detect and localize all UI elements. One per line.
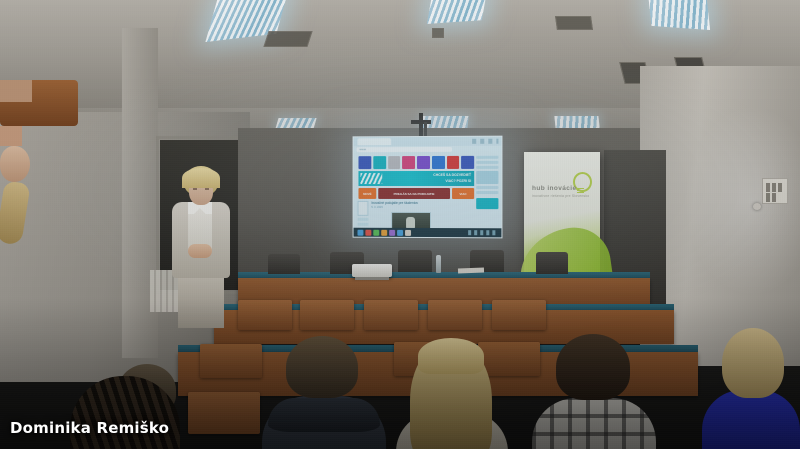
audience-head bbox=[418, 338, 484, 374]
presenter-speaker bbox=[160, 166, 240, 326]
audience-head bbox=[286, 336, 358, 398]
banner-tagline: inovatívne riešenia pre Slovensko bbox=[532, 194, 592, 198]
hero-banner[interactable]: CHCEŠ SA DOZVEDIEŤ VIAC? POZRI SI bbox=[358, 171, 474, 186]
nav-tile[interactable] bbox=[447, 156, 460, 169]
lecture-seat bbox=[428, 300, 482, 330]
sidebar-line bbox=[476, 161, 498, 164]
motion-sensor-icon bbox=[753, 203, 761, 210]
ceiling-light-icon bbox=[554, 116, 599, 128]
projector-unit bbox=[352, 264, 392, 277]
audience-neck bbox=[0, 80, 32, 102]
browser-chrome bbox=[354, 137, 502, 147]
banner-line-2: VIAC? POZRI SI bbox=[445, 179, 471, 183]
chair-back bbox=[398, 250, 432, 272]
browser-url-bar[interactable] bbox=[357, 147, 453, 152]
taskbar-tray-icons[interactable] bbox=[468, 230, 498, 235]
ceiling-vent-icon bbox=[555, 16, 593, 30]
windows-taskbar[interactable] bbox=[354, 228, 502, 238]
sidebar-thumb bbox=[357, 201, 368, 216]
audience-blue-top bbox=[0, 80, 78, 244]
promo-strip-left[interactable]: NOVÉ bbox=[358, 188, 376, 199]
nav-tile[interactable] bbox=[388, 156, 401, 169]
taskbar-icon[interactable] bbox=[389, 229, 395, 235]
sidebar-line bbox=[357, 218, 368, 221]
water-bottle bbox=[436, 255, 441, 273]
audience-face bbox=[0, 146, 30, 182]
article-block[interactable]: Inovačné podujatie pre študentov 5. 3. 2… bbox=[371, 201, 457, 209]
lecture-seat bbox=[200, 344, 262, 378]
nav-tile[interactable] bbox=[373, 156, 386, 169]
presenter-skirt bbox=[178, 276, 224, 328]
lecture-seat bbox=[300, 300, 354, 330]
sidebar-line bbox=[357, 223, 368, 226]
promo-strip-center[interactable]: PRIHLÁS SA NA PODUJATIE bbox=[378, 188, 450, 199]
sidebar-cta-block[interactable] bbox=[476, 198, 498, 209]
right-sidebar-column bbox=[476, 156, 498, 211]
audience-hood bbox=[268, 398, 380, 432]
audience-plaid-shirt bbox=[532, 398, 656, 449]
lightbulb-icon bbox=[570, 172, 590, 196]
audience-head bbox=[722, 328, 784, 398]
promo-strip-right[interactable]: VIAC bbox=[452, 188, 474, 199]
taskbar-icon[interactable] bbox=[397, 229, 403, 235]
ceiling-light-icon bbox=[648, 0, 710, 30]
room-background: www CHCEŠ SA DOZVEDIEŤ VIAC? POZRI SI bbox=[0, 0, 800, 449]
article-headline: Inovačné podujatie pre študentov bbox=[371, 201, 457, 205]
lecture-seat bbox=[364, 300, 418, 330]
tile-nav-row bbox=[358, 156, 474, 169]
photograph-lecture-hall: www CHCEŠ SA DOZVEDIEŤ VIAC? POZRI SI bbox=[0, 0, 800, 449]
presenter-hands bbox=[188, 244, 212, 258]
taskbar-icon[interactable] bbox=[365, 229, 371, 235]
chair-back bbox=[536, 252, 568, 274]
taskbar-icon[interactable] bbox=[381, 229, 387, 235]
lecture-seat bbox=[188, 392, 260, 434]
nav-tile[interactable] bbox=[461, 156, 474, 169]
sidebar-line bbox=[476, 166, 498, 169]
browser-url-text: www bbox=[359, 147, 365, 152]
audience-head bbox=[556, 334, 630, 400]
nav-tile[interactable] bbox=[358, 156, 371, 169]
ceiling-vent-icon bbox=[263, 31, 312, 47]
taskbar-icon[interactable] bbox=[405, 229, 411, 235]
presenter-hair-top bbox=[182, 168, 220, 188]
projection-screen: www CHCEŠ SA DOZVEDIEŤ VIAC? POZRI SI bbox=[353, 136, 503, 239]
taskbar-icon[interactable] bbox=[357, 229, 363, 235]
light-switch-panel[interactable] bbox=[762, 178, 788, 204]
lecture-seat bbox=[492, 300, 546, 330]
audience-blue-sweater bbox=[702, 390, 800, 449]
window-controls-icon[interactable] bbox=[472, 139, 498, 144]
article-subline: 5. 3. 2015 bbox=[371, 206, 457, 209]
banner-brand-name: hub inovácie bbox=[532, 185, 590, 192]
audience-ponytail bbox=[0, 180, 31, 245]
sidebar-line bbox=[476, 156, 498, 159]
browser-tab[interactable] bbox=[357, 138, 391, 145]
sidebar-block bbox=[476, 171, 498, 184]
chair-back bbox=[268, 254, 300, 274]
nav-tile[interactable] bbox=[417, 156, 430, 169]
ceiling-light-icon bbox=[427, 0, 487, 24]
sidebar-line bbox=[476, 186, 498, 189]
sidebar-line bbox=[476, 191, 498, 194]
banner-hatch-graphic bbox=[360, 173, 382, 184]
banner-line-1: CHCEŠ SA DOZVEDIEŤ bbox=[433, 173, 471, 177]
audience-hoodie-man bbox=[0, 80, 32, 102]
nav-tile[interactable] bbox=[402, 156, 415, 169]
photographer-watermark: Dominika Remiško bbox=[10, 419, 169, 437]
taskbar-icon[interactable] bbox=[373, 229, 379, 235]
lecture-seat bbox=[238, 300, 292, 330]
papers-on-desk bbox=[458, 268, 484, 274]
nav-tile[interactable] bbox=[432, 156, 445, 169]
audience-neck bbox=[0, 126, 22, 146]
ceiling-vent-icon bbox=[432, 28, 444, 38]
promo-strip-row: NOVÉ PRIHLÁS SA NA PODUJATIE VIAC bbox=[358, 188, 474, 199]
left-sidebar-column bbox=[357, 201, 368, 228]
lecture-seat bbox=[478, 342, 540, 376]
projected-browser-window: www CHCEŠ SA DOZVEDIEŤ VIAC? POZRI SI bbox=[353, 136, 503, 239]
